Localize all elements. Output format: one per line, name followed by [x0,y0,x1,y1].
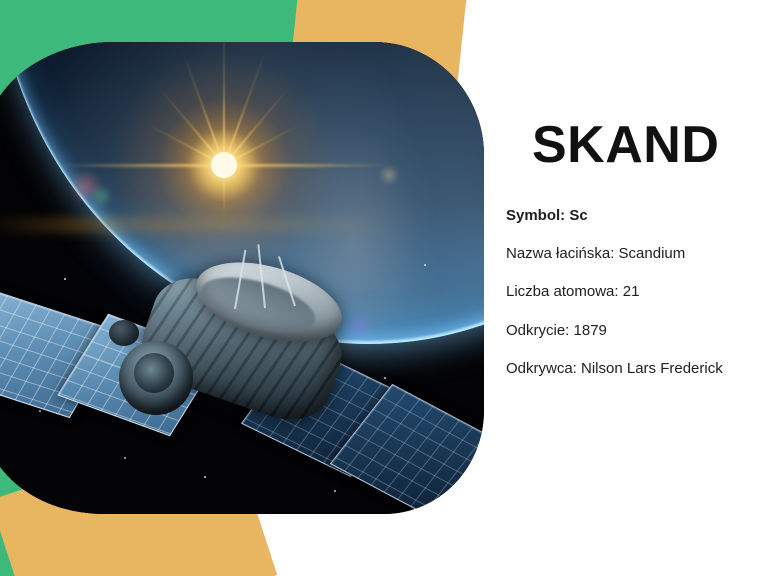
photo-artwork [0,42,484,514]
fact-discovery-year: Odkrycie: 1879 [506,321,756,340]
fact-atomic-number: Liczba atomowa: 21 [506,282,756,301]
sun-ray [223,42,225,165]
fact-symbol: Symbol: Sc [506,206,756,225]
lens-flare-dot [89,184,113,208]
fact-discoverer: Odkrywca: Nilson Lars Frederick [506,359,756,378]
sun-core [211,152,237,178]
lens-flare-band [0,217,484,233]
fact-latin-name: Nazwa łacińska: Scandium [506,244,756,263]
slide-canvas: SKAND Symbol: Sc Nazwa łacińska: Scandiu… [0,0,768,576]
page-title: SKAND [532,118,756,172]
element-info-panel: SKAND Symbol: Sc Nazwa łacińska: Scandiu… [506,118,756,397]
lens-flare-dot [379,165,399,185]
satellite [0,259,484,514]
satellite-photo [0,42,484,514]
